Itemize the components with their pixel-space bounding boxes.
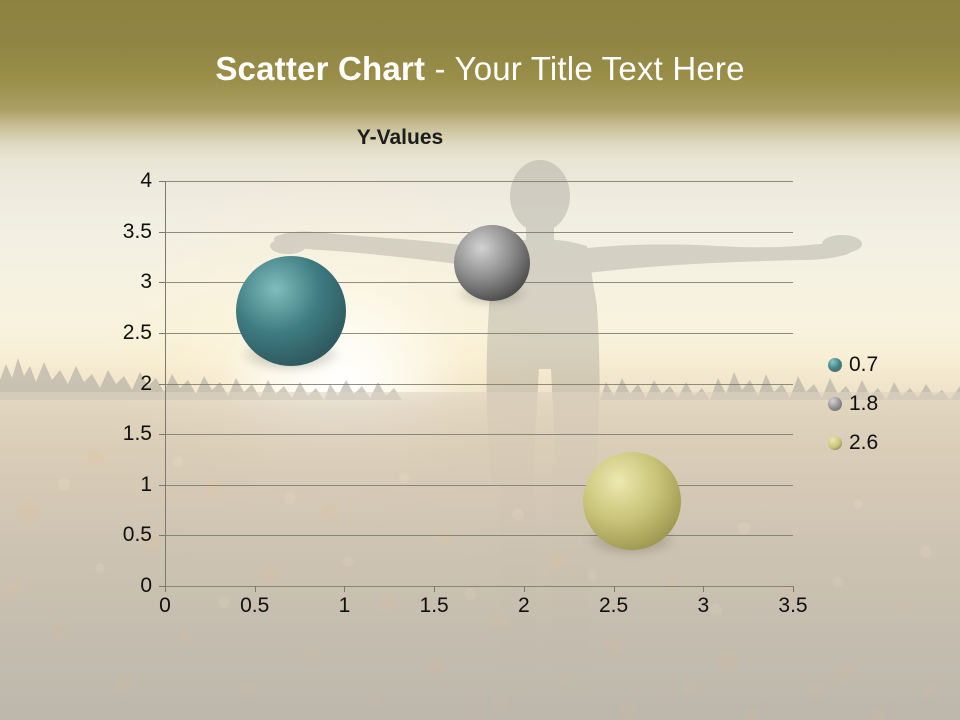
gridline	[165, 485, 793, 486]
legend-marker-icon	[828, 436, 842, 450]
x-tick	[793, 586, 794, 592]
y-axis-tick-label: 4	[140, 169, 152, 193]
y-axis-tick-label: 0.5	[123, 523, 152, 547]
gridline	[165, 586, 793, 587]
legend-label: 1.8	[849, 393, 878, 414]
x-tick	[344, 586, 345, 592]
bubble-sphere	[583, 452, 681, 550]
x-axis-tick-label: 3	[697, 594, 709, 618]
x-axis-tick-label: 0.5	[240, 594, 269, 618]
bubble-sphere	[236, 256, 346, 366]
gridline	[165, 535, 793, 536]
legend-label: 0.7	[849, 354, 878, 375]
y-axis-tick-label: 2.5	[123, 321, 152, 345]
y-tick	[159, 333, 165, 334]
legend-label: 2.6	[849, 432, 878, 453]
legend-item[interactable]: 0.7	[828, 345, 948, 384]
x-axis-tick-label: 0	[159, 594, 171, 618]
legend-item[interactable]: 1.8	[828, 384, 948, 423]
slide-title-separator: -	[425, 50, 454, 87]
y-axis-tick-label: 2	[140, 372, 152, 396]
legend-marker-icon	[828, 397, 842, 411]
x-axis-tick-label: 1.5	[420, 594, 449, 618]
x-axis-tick-label: 3.5	[778, 594, 807, 618]
gridline	[165, 384, 793, 385]
legend-marker-icon	[828, 358, 842, 372]
y-tick	[159, 485, 165, 486]
data-bubble[interactable]	[583, 452, 681, 550]
y-axis-tick-label: 0	[140, 574, 152, 598]
chart-title: Y-Values	[0, 126, 800, 150]
x-tick	[434, 586, 435, 592]
legend-item[interactable]: 2.6	[828, 423, 948, 462]
x-axis-tick-label: 2	[518, 594, 530, 618]
x-axis-tick-label: 2.5	[599, 594, 628, 618]
data-bubble[interactable]	[454, 225, 530, 301]
y-tick	[159, 384, 165, 385]
y-axis-tick-label: 3.5	[123, 220, 152, 244]
chart-legend: 0.71.82.6	[828, 345, 948, 462]
gridline	[165, 434, 793, 435]
slide-canvas: Scatter Chart - Your Title Text Here Y-V…	[0, 0, 960, 720]
y-tick	[159, 181, 165, 182]
y-tick	[159, 232, 165, 233]
y-axis-tick-label: 1	[140, 473, 152, 497]
y-tick	[159, 434, 165, 435]
bubble-sphere	[454, 225, 530, 301]
data-bubble[interactable]	[236, 256, 346, 366]
x-tick	[703, 586, 704, 592]
slide-title-light: Your Title Text Here	[455, 50, 745, 87]
slide-title: Scatter Chart - Your Title Text Here	[0, 50, 960, 88]
x-tick	[165, 586, 166, 592]
x-axis-tick-label: 1	[339, 594, 351, 618]
gridline	[165, 181, 793, 182]
y-axis-tick-label: 1.5	[123, 422, 152, 446]
x-tick	[524, 586, 525, 592]
slide-title-strong: Scatter Chart	[215, 50, 425, 87]
x-tick	[614, 586, 615, 592]
x-tick	[255, 586, 256, 592]
plot-area: 00.511.522.533.54 00.511.522.533.5	[165, 181, 793, 586]
y-axis-tick-label: 3	[140, 270, 152, 294]
y-tick	[159, 282, 165, 283]
y-tick	[159, 535, 165, 536]
